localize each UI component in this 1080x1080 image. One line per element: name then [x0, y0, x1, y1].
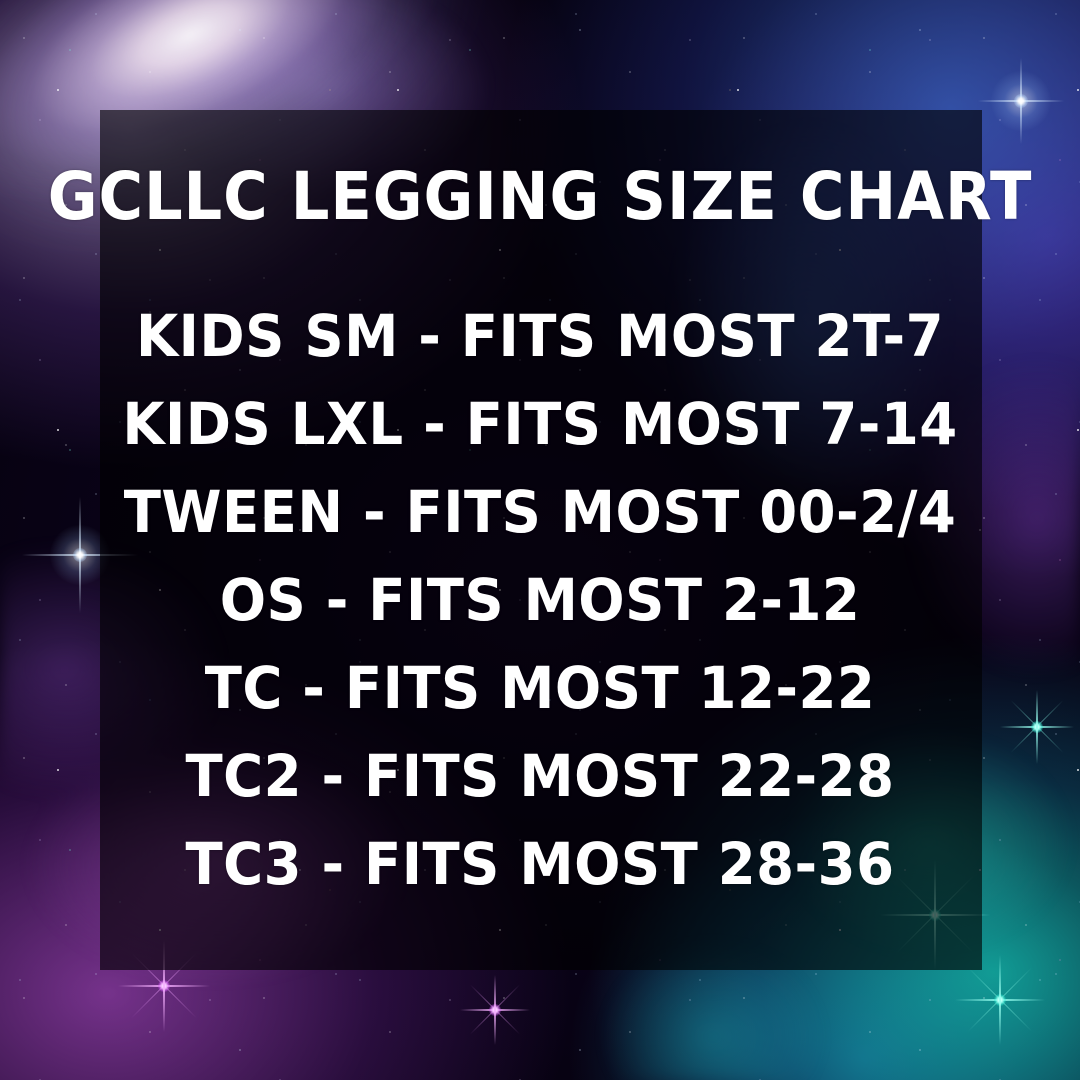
size-chart-list: KIDS SM - FITS MOST 2T-7 KIDS LXL - FITS… — [60, 292, 1020, 908]
list-item: TC3 - FITS MOST 28-36 — [89, 820, 991, 908]
list-item: KIDS LXL - FITS MOST 7-14 — [89, 380, 991, 468]
list-item: TC - FITS MOST 12-22 — [89, 644, 991, 732]
size-chart-poster: GCLLC LEGGING SIZE CHART KIDS SM - FITS … — [0, 0, 1080, 1080]
list-item: KIDS SM - FITS MOST 2T-7 — [89, 292, 991, 380]
list-item: OS - FITS MOST 2-12 — [89, 556, 991, 644]
list-item: TC2 - FITS MOST 22-28 — [89, 732, 991, 820]
page-title: GCLLC LEGGING SIZE CHART — [43, 160, 1037, 234]
poster-content: GCLLC LEGGING SIZE CHART KIDS SM - FITS … — [0, 0, 1080, 1080]
list-item: TWEEN - FITS MOST 00-2/4 — [89, 468, 991, 556]
